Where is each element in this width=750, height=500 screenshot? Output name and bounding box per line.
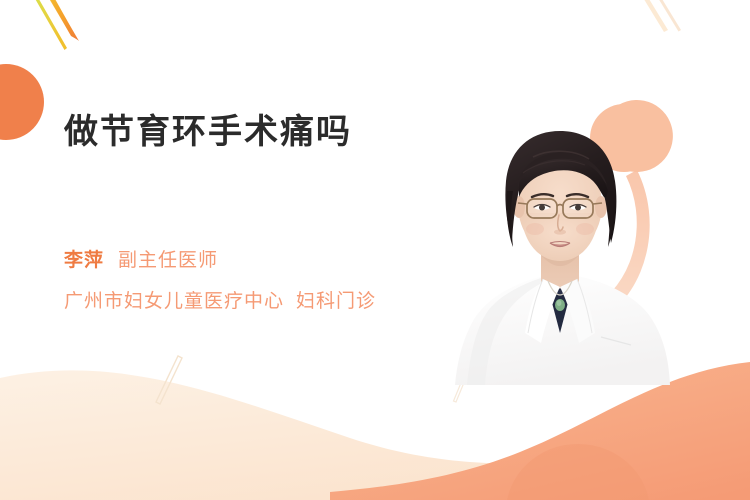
doctor-video-cover-card: 做节育环手术痛吗 李萍副主任医师 广州市妇女儿童医疗中心妇科门诊 — [0, 0, 750, 500]
decoration-faint-strokes-top-right — [642, 0, 681, 32]
decoration-faint-outline-strokes — [156, 356, 470, 404]
decoration-cream-wave — [0, 370, 750, 500]
decoration-thin-yellow-stroke — [34, 0, 68, 50]
doctor-portrait — [455, 95, 670, 385]
organization-name: 广州市妇女儿童医疗中心 — [64, 291, 284, 312]
decoration-orange-circle — [0, 64, 44, 140]
organization-credit-row: 广州市妇女儿童医疗中心妇科门诊 — [64, 291, 376, 314]
doctor-credit-row: 李萍副主任医师 — [64, 250, 218, 273]
department-name: 妇科门诊 — [296, 291, 376, 312]
doctor-job-title: 副主任医师 — [118, 250, 218, 271]
page-title: 做节育环手术痛吗 — [64, 112, 352, 153]
decoration-orange-wedge — [44, 0, 79, 41]
doctor-name: 李萍 — [64, 250, 104, 271]
decoration-salmon-overlap-circle — [506, 444, 650, 500]
